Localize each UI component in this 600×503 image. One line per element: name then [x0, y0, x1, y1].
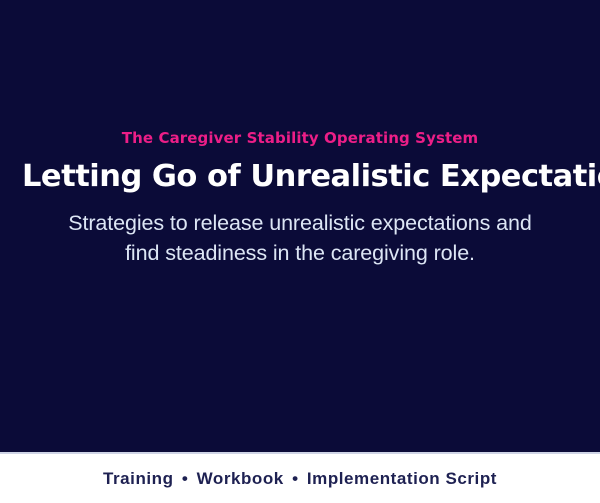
footer-item-training: Training — [103, 469, 174, 488]
subtitle: Strategies to release unrealistic expect… — [50, 208, 550, 268]
bullet-separator-icon: • — [289, 469, 302, 488]
subtitle-line-2: find steadiness in the caregiving role. — [125, 241, 475, 265]
hero-section: The Caregiver Stability Operating System… — [0, 0, 600, 452]
footer-item-implementation-script: Implementation Script — [307, 469, 497, 488]
subtitle-line-1: Strategies to release unrealistic expect… — [68, 211, 532, 235]
title-slide: The Caregiver Stability Operating System… — [0, 0, 600, 503]
bullet-separator-icon: • — [179, 469, 192, 488]
page-title: Letting Go of Unrealistic Expectations — [22, 158, 578, 196]
footer-deliverables-list: Training • Workbook • Implementation Scr… — [103, 468, 497, 490]
footer-bar: Training • Workbook • Implementation Scr… — [0, 454, 600, 503]
footer-item-workbook: Workbook — [197, 469, 284, 488]
eyebrow-program-name: The Caregiver Stability Operating System — [22, 128, 578, 148]
hero-text-block: The Caregiver Stability Operating System… — [0, 128, 600, 268]
